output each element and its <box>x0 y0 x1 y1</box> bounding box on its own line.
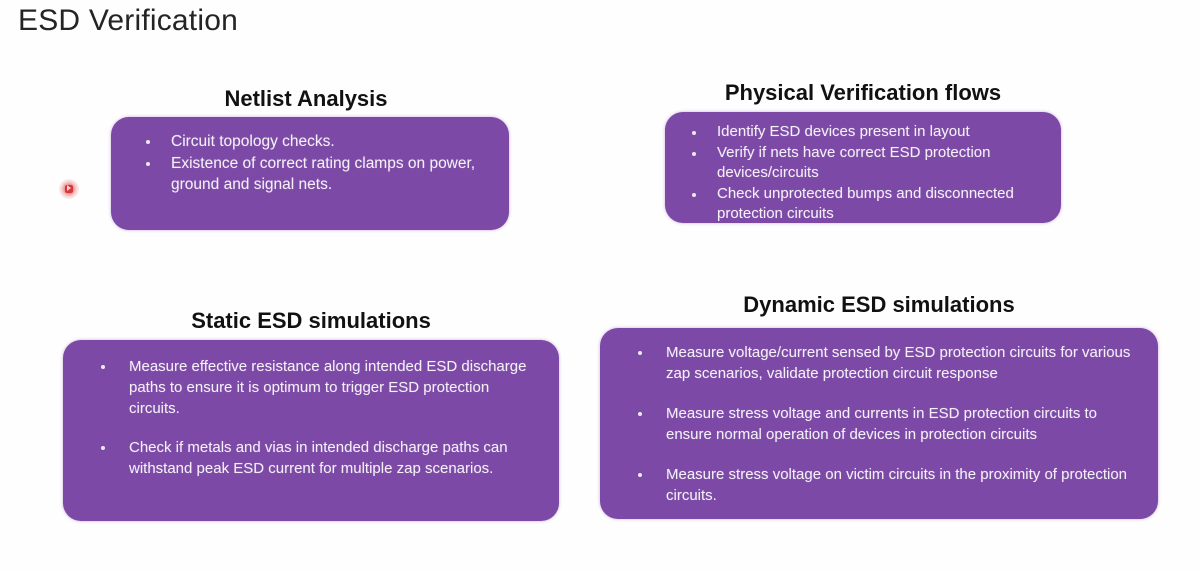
bullet-dot-icon <box>146 162 150 166</box>
page-title: ESD Verification <box>18 4 238 38</box>
panel-heading-dynamic-esd-simulations: Dynamic ESD simulations <box>600 292 1158 318</box>
bullet-dot-icon <box>692 152 696 156</box>
bullet-list: Measure voltage/current sensed by ESD pr… <box>600 328 1158 506</box>
bullet-list: Measure effective resistance along inten… <box>63 340 559 479</box>
list-item-text: Existence of correct rating clamps on po… <box>171 155 475 193</box>
list-item: Identify ESD devices present in layout <box>677 122 1049 143</box>
bullet-dot-icon <box>101 446 105 450</box>
bullet-dot-icon <box>638 351 642 355</box>
list-item: Verify if nets have correct ESD protecti… <box>677 143 1049 184</box>
bullet-dot-icon <box>638 412 642 416</box>
panel-card-static-esd-simulations: Measure effective resistance along inten… <box>63 340 559 521</box>
list-item: Measure voltage/current sensed by ESD pr… <box>622 342 1136 384</box>
list-item: Check unprotected bumps and disconnected… <box>677 184 1049 225</box>
list-item: Circuit topology checks. <box>129 131 491 152</box>
list-item-text: Check if metals and vias in intended dis… <box>129 439 508 477</box>
list-item-text: Circuit topology checks. <box>171 133 335 150</box>
panel-card-netlist-analysis: Circuit topology checks. Existence of co… <box>111 117 509 230</box>
list-item: Check if metals and vias in intended dis… <box>83 437 539 479</box>
pointer-arrow-icon <box>67 185 71 191</box>
panel-heading-static-esd-simulations: Static ESD simulations <box>63 308 559 334</box>
panel-heading-physical-verification-flows: Physical Verification flows <box>663 80 1063 106</box>
list-item-text: Verify if nets have correct ESD protecti… <box>717 144 990 182</box>
panel-card-dynamic-esd-simulations: Measure voltage/current sensed by ESD pr… <box>600 328 1158 519</box>
laser-pointer-marker <box>59 179 79 199</box>
bullet-dot-icon <box>101 365 105 369</box>
list-item-text: Check unprotected bumps and disconnected… <box>717 185 1014 223</box>
panel-heading-netlist-analysis: Netlist Analysis <box>106 86 506 112</box>
list-item-text: Measure effective resistance along inten… <box>129 358 526 417</box>
bullet-dot-icon <box>638 473 642 477</box>
bullet-list: Circuit topology checks. Existence of co… <box>111 117 509 195</box>
bullet-dot-icon <box>146 140 150 144</box>
list-item-text: Measure stress voltage on victim circuit… <box>666 466 1127 504</box>
list-item-text: Measure stress voltage and currents in E… <box>666 405 1097 443</box>
list-item: Measure stress voltage on victim circuit… <box>622 464 1136 506</box>
bullet-dot-icon <box>692 131 696 135</box>
list-item-text: Identify ESD devices present in layout <box>717 123 970 140</box>
bullet-list: Identify ESD devices present in layout V… <box>665 112 1061 225</box>
list-item: Measure stress voltage and currents in E… <box>622 403 1136 445</box>
list-item-text: Measure voltage/current sensed by ESD pr… <box>666 344 1130 382</box>
list-item: Existence of correct rating clamps on po… <box>129 153 491 195</box>
list-item: Measure effective resistance along inten… <box>83 356 539 419</box>
panel-card-physical-verification-flows: Identify ESD devices present in layout V… <box>665 112 1061 223</box>
bullet-dot-icon <box>692 193 696 197</box>
